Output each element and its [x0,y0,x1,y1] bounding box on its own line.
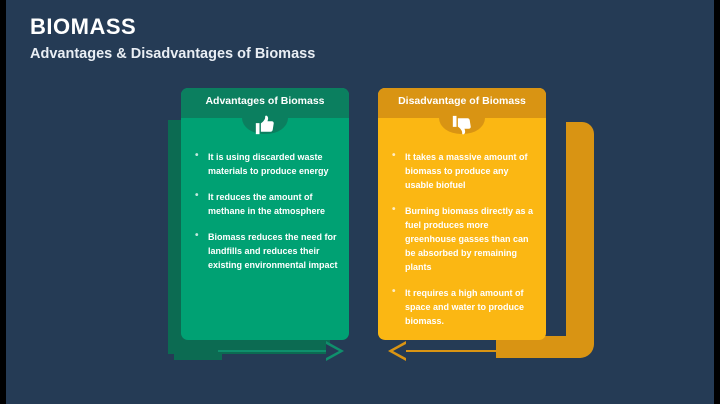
list-item: Biomass reduces the need for landfills a… [195,230,339,272]
left-arrow-line [218,350,328,352]
disadvantages-card[interactable]: Disadvantage of Biomass It takes a massi… [378,88,546,340]
disadvantages-card-title: Disadvantage of Biomass [378,95,546,107]
page-title: BIOMASS [30,14,136,40]
list-item: It reduces the amount of methane in the … [195,190,339,218]
left-pointing-arrow-icon-inner [393,344,406,358]
right-pointing-arrow-icon-inner [326,344,339,358]
list-item: Burning biomass directly as a fuel produ… [392,204,536,274]
page-subtitle: Advantages & Disadvantages of Biomass [30,46,315,62]
list-item: It is using discarded waste materials to… [195,150,339,178]
list-item: It requires a high amount of space and w… [392,286,536,328]
slide-canvas: BIOMASS Advantages & Disadvantages of Bi… [6,0,714,404]
list-item: It takes a massive amount of biomass to … [392,150,536,192]
thumbs-up-icon [254,114,276,136]
right-card-backdrop-vertical [566,122,594,338]
left-arrow-stub [174,340,222,360]
advantages-card-title: Advantages of Biomass [181,95,349,107]
advantages-card[interactable]: Advantages of Biomass It is using discar… [181,88,349,340]
right-arrow-line [404,350,504,352]
thumbs-down-icon [451,114,473,136]
disadvantages-bullet-list: It takes a massive amount of biomass to … [392,150,536,340]
advantages-bullet-list: It is using discarded waste materials to… [195,150,339,284]
